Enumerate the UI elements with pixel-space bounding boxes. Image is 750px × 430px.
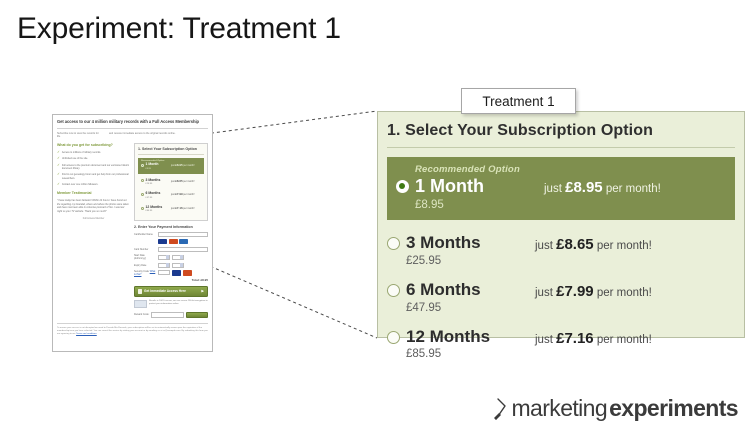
benefits-heading: What do you get for subscribing? [57,143,130,148]
radio-1-month[interactable] [396,180,409,193]
subscription-box-thumbnail: 1. Select Your Subscription Option Recom… [134,143,208,221]
monthly-price: £8.95 [565,179,603,196]
just-suffix: per month! [606,183,661,195]
callout-text: Treatment 1 [482,94,554,109]
page-title: Experiment: Treatment 1 [17,12,341,46]
expiry-year-select[interactable] [172,263,184,268]
testimonial-quote: "I have today has been fantastic! Within… [57,199,130,213]
mastercard-securecode-icon [183,270,192,276]
just-suffix: per month! [597,334,652,346]
flask-icon [492,397,509,421]
divider [57,128,208,129]
promo-apply-button[interactable] [186,312,208,318]
treatment-page-thumbnail[interactable]: Get access to our 4 million military rec… [52,114,213,352]
radio-12-months[interactable] [387,331,400,344]
checkmark-icon: ✓ [57,173,60,180]
radio-6-months[interactable] [141,193,144,196]
list-item: ✓Contact over one million followers. [57,183,130,186]
option-row-3-months[interactable]: 3 Months £25.95 just £8.65 per month! [378,234,744,267]
monthly-price: £7.99 [556,283,594,300]
divider [138,154,204,155]
option-total: £47.95 [146,197,161,200]
list-item: ✓Find in our genealogy forum and get hel… [57,173,130,180]
option-name: 6 Months [146,191,161,195]
just-prefix: just [535,334,553,346]
option-name: 3 Months [406,234,481,252]
field-label: Security Code What is this? [134,270,156,276]
option-name: 12 Months [406,328,490,346]
panel-heading: 1. Select Your Subscription Option [378,112,744,140]
option-name: 3 Months [146,178,161,182]
chevron-down-icon [180,263,183,267]
promo-code-row: Reward Code: [134,312,208,318]
option-total: £47.95 [406,302,481,314]
order-total: Total: £8.95 [134,278,208,283]
just-suffix: per month! [597,287,652,299]
chevron-down-icon [166,255,169,259]
option-row-1-month[interactable]: 1 Month £8.95 just £8.95 per month! [387,177,735,211]
option-total: £25.95 [146,183,161,186]
checkmark-icon: ✓ [57,164,60,171]
option-row-3-months[interactable]: 3 Months £25.95 just £8.65 per month! [138,176,204,189]
ssl-seal-icon [134,300,147,308]
option-monthly-price: just £7.99 per month! [171,192,201,197]
benefits-list: ✓Access to millions of military records.… [57,151,130,186]
option-monthly-price: just £7.99 per month! [535,281,735,303]
option-total: £85.95 [146,210,163,213]
expiry-month-select[interactable] [158,263,170,268]
checkmark-icon: ✓ [57,151,60,154]
option-monthly-price: just £8.95 per month! [544,177,726,199]
arrow-right-icon: ▶ [201,290,204,293]
checkmark-icon: ✓ [57,183,60,186]
radio-3-months[interactable] [141,179,144,182]
lock-icon [138,289,142,294]
radio-12-months[interactable] [141,207,144,210]
logo-text-bold: experiments [609,395,738,422]
payment-heading: 2. Enter Your Payment Information [134,225,208,230]
recommended-option-row[interactable]: Recommended Option 1 Month £8.95 just [138,158,204,174]
thumbnail-subheadline: Subscribe now to view the records for li… [57,132,208,140]
monthly-price: £7.16 [556,330,594,347]
recommended-option-band[interactable]: Recommended Option 1 Month £8.95 just £8… [387,157,735,220]
option-monthly-price: just £8.65 per month! [535,234,735,256]
testimonial-attribution: Full Access Member [57,217,130,221]
card-logos [158,239,208,245]
mastercard-icon [169,239,178,245]
start-date-field-row: Start Date (dd/mm/yy) [134,254,208,260]
card-number-field-row: Card Number [134,247,208,252]
subscription-panel-enlarged: 1. Select Your Subscription Option Recom… [377,111,745,338]
start-month-select[interactable] [158,255,170,260]
option-monthly-price: just £7.16 per month! [171,206,201,211]
promo-label: Reward Code: [134,313,149,317]
just-prefix: just [544,183,562,195]
security-badge: Results is 100% secure, we use secure 25… [134,300,208,308]
option-monthly-price: just £7.16 per month! [535,328,735,350]
security-code-input[interactable] [158,270,170,275]
verified-by-visa-icon [172,270,181,276]
checkmark-icon: ✓ [57,157,60,160]
just-suffix: per month! [597,240,652,252]
chevron-down-icon [166,263,169,267]
option-name: 12 Months [146,205,163,209]
option-total: £8.95 [415,199,484,211]
card-number-input[interactable] [158,247,208,252]
monthly-price: £8.65 [556,236,594,253]
subheadline-left: Subscribe now to view the records for li… [57,132,103,140]
promo-code-input[interactable] [151,312,184,318]
expiry-date-field-row: Expiry Date [134,263,208,268]
subheadline-right: and receive immediate access to the orig… [109,132,179,140]
visa-icon [158,239,167,245]
thumbnail-headline: Get access to our 4 million military rec… [57,119,208,125]
field-label: Card Number [134,248,156,251]
radio-6-months[interactable] [387,284,400,297]
cta-button-thumbnail[interactable]: Get Immediate Access Here ▶ [134,286,208,297]
secure-badges [172,270,192,276]
option-monthly-price: just £8.95 per month! [171,163,201,168]
option-total: £85.95 [406,348,490,360]
option-total: £25.95 [406,255,481,267]
divider [57,323,208,324]
security-code-field-row: Security Code What is this? [134,270,208,276]
testimonial-heading: Member Testimonial [57,191,130,196]
cardholder-name-input[interactable] [158,232,208,237]
option-monthly-price: just £8.65 per month! [171,179,201,184]
field-label: Cardholder Name [134,233,156,236]
maestro-icon [179,239,188,245]
list-item: ✓Unlimited use of the site. [57,157,130,160]
option-total: £8.95 [146,168,159,171]
option-name: 6 Months [406,281,481,299]
terms-link[interactable]: Terms and conditions [76,333,97,335]
subscription-heading: 1. Select Your Subscription Option [138,147,204,152]
divider [387,147,735,148]
option-name: 1 Month [146,162,159,166]
field-label: Expiry Date [134,264,156,267]
footer-legal-text: To ensure your access is not disrupted w… [57,327,208,337]
start-year-select[interactable] [172,255,184,260]
option-name: 1 Month [415,177,484,196]
option-row-12-months[interactable]: 12 Months £85.95 just £7.16 per month! [138,203,204,216]
list-item: ✓Full access to the premium document and… [57,164,130,171]
thumbnail-left-column: What do you get for subscribing? ✓Access… [57,143,130,318]
option-row-6-months[interactable]: 6 Months £47.95 just £7.99 per month! [138,190,204,203]
list-item: ✓Access to millions of military records. [57,151,130,154]
chevron-down-icon [180,255,183,259]
marketing-experiments-logo: marketingexperiments [492,395,738,422]
logo-text-light: marketing [511,395,607,422]
field-label: Start Date (dd/mm/yy) [134,254,156,260]
recommended-label: Recommended Option [415,164,735,175]
just-prefix: just [535,240,553,252]
cta-label: Get Immediate Access Here [144,289,186,294]
just-prefix: just [535,287,553,299]
option-row-6-months[interactable]: 6 Months £47.95 just £7.99 per month! [378,281,744,314]
radio-3-months[interactable] [387,237,400,250]
security-badge-text: Results is 100% secure, we use secure 25… [149,300,208,306]
option-row-12-months[interactable]: 12 Months £85.95 just £7.16 per month! [378,328,744,361]
thumbnail-right-column: 1. Select Your Subscription Option Recom… [134,143,208,318]
callout-label: Treatment 1 [461,88,576,114]
radio-1-month[interactable] [141,164,144,167]
cardholder-name-field-row: Cardholder Name [134,232,208,237]
